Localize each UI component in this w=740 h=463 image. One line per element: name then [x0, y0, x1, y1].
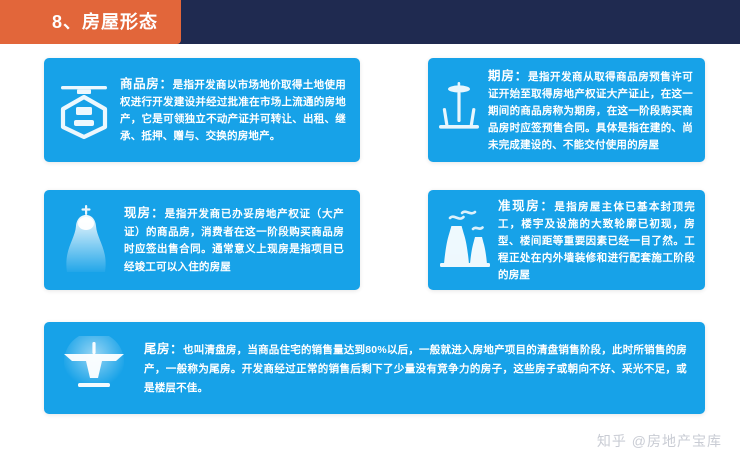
header-bar: 8、房屋形态 — [0, 0, 740, 44]
tower-building-icon — [55, 200, 117, 280]
card-icon-wrap-commodity — [44, 79, 120, 141]
card-commodity-housing: 商品房：是指开发商以市场地价取得土地使用权进行开发建设并经过批准在市场上流通的房… — [44, 58, 360, 162]
card-forward-housing: 期房：是指开发商从取得商品房预售许可证开始至取得房地产权证大产证止，在这一期间的… — [428, 58, 705, 162]
card-term-existing: 现房： — [124, 206, 165, 220]
card-term-tail: 尾房： — [144, 342, 183, 356]
card-term-commodity: 商品房： — [120, 77, 173, 91]
cooling-tower-icon — [435, 204, 495, 276]
card-body-tail: 也叫清盘房，当商品住宅的销售量达到80%以后，一般就进入房地产项目的清盘销售阶段… — [144, 344, 687, 394]
card-text-commodity: 商品房：是指开发商以市场地价取得土地使用权进行开发建设并经过批准在市场上流通的房… — [120, 76, 360, 144]
card-existing-housing: 现房：是指开发商已办妥房地产权证（大产证）的商品房，消费者在这一阶段购买商品房时… — [44, 190, 360, 290]
card-icon-wrap-tail — [44, 336, 144, 400]
card-tail-housing: 尾房：也叫清盘房，当商品住宅的销售量达到80%以后，一般就进入房地产项目的清盘销… — [44, 322, 705, 414]
house-icon — [55, 79, 113, 141]
card-icon-wrap-quasi — [428, 204, 498, 276]
card-term-forward: 期房： — [488, 69, 528, 83]
card-text-tail: 尾房：也叫清盘房，当商品住宅的销售量达到80%以后，一般就进入房地产项目的清盘销… — [144, 340, 705, 397]
card-quasi-existing-housing: 准现房：是指房屋主体已基本封顶完工，楼宇及设施的大致轮廓已初现，房型、楼间距等重… — [428, 190, 705, 290]
antenna-tower-icon — [56, 336, 132, 400]
card-text-existing: 现房：是指开发商已办妥房地产权证（大产证）的商品房，消费者在这一阶段购买商品房时… — [124, 205, 360, 275]
card-text-forward: 期房：是指开发商从取得商品房预售许可证开始至取得房地产权证大产证止，在这一期间的… — [488, 68, 705, 153]
crane-icon — [435, 78, 483, 142]
card-icon-wrap-forward — [428, 78, 488, 142]
card-term-quasi: 准现房： — [498, 199, 554, 213]
watermark: 知乎 @房地产宝库 — [597, 431, 722, 451]
card-icon-wrap-existing — [44, 200, 124, 280]
page-title: 8、房屋形态 — [52, 9, 158, 35]
card-text-quasi: 准现房：是指房屋主体已基本封顶完工，楼宇及设施的大致轮廓已初现，房型、楼间距等重… — [498, 198, 705, 283]
